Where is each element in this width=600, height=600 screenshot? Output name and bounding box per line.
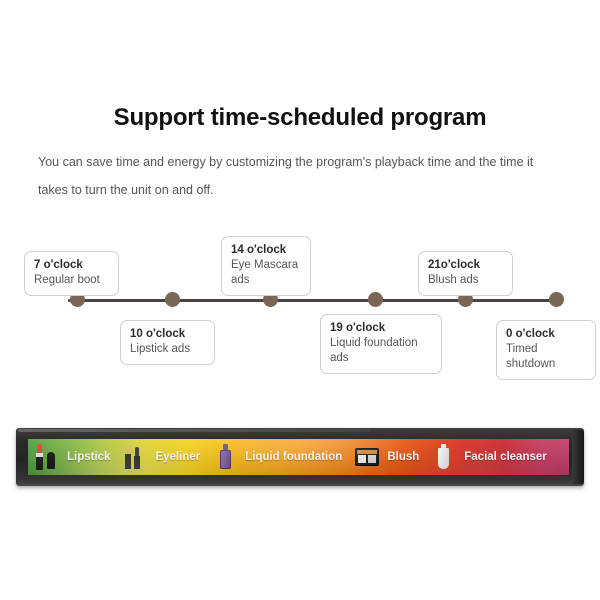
timeline-event-time: 0 o'clock xyxy=(506,327,586,342)
timeline-event-time: 7 o'clock xyxy=(34,258,109,273)
stretched-bar-display: Lipstick Eyeliner Liquid foundation xyxy=(16,428,584,486)
timeline-event-10-oclock[interactable]: 10 o'clock Lipstick ads xyxy=(120,320,215,365)
timeline-dot[interactable] xyxy=(165,292,180,307)
lipstick-icon xyxy=(34,442,60,472)
timeline-event-time: 19 o'clock xyxy=(330,321,432,336)
timeline-event-14-oclock[interactable]: 14 o'clock Eye Mascara ads xyxy=(221,236,311,296)
timeline-event-desc: Timed shutdown xyxy=(506,342,586,372)
timeline-axis xyxy=(68,299,558,302)
display-item-label: Lipstick xyxy=(67,451,110,463)
display-item-label: Eyeliner xyxy=(155,451,200,463)
blush-palette-icon xyxy=(354,442,380,472)
display-item-label: Blush xyxy=(387,451,419,463)
display-item-label: Liquid foundation xyxy=(245,451,342,463)
timeline-event-desc: Liquid foundation ads xyxy=(330,336,432,366)
display-screen: Lipstick Eyeliner Liquid foundation xyxy=(28,439,569,475)
timeline-dot[interactable] xyxy=(368,292,383,307)
timeline-event-7-oclock[interactable]: 7 o'clock Regular boot xyxy=(24,251,119,296)
display-item-facial-cleanser: Facial cleanser xyxy=(431,439,558,475)
cleanser-tube-icon xyxy=(431,442,457,472)
timeline-event-desc: Eye Mascara ads xyxy=(231,258,301,288)
timeline-event-time: 10 o'clock xyxy=(130,327,205,342)
timeline-event-time: 21o'clock xyxy=(428,258,503,273)
timeline-event-desc: Blush ads xyxy=(428,273,503,288)
bezel-highlight xyxy=(18,429,370,432)
timeline-event-21-oclock[interactable]: 21o'clock Blush ads xyxy=(418,251,513,296)
timeline-event-19-oclock[interactable]: 19 o'clock Liquid foundation ads xyxy=(320,314,442,374)
foundation-bottle-icon xyxy=(212,442,238,472)
timeline-dot[interactable] xyxy=(549,292,564,307)
timeline-event-desc: Lipstick ads xyxy=(130,342,205,357)
display-item-blush: Blush xyxy=(354,439,431,475)
display-item-lipstick: Lipstick xyxy=(34,439,122,475)
display-item-liquid-foundation: Liquid foundation xyxy=(212,439,354,475)
bezel-right-face xyxy=(572,430,584,484)
schedule-timeline: 7 o'clock Regular boot 10 o'clock Lipsti… xyxy=(0,240,600,390)
page-title: Support time-scheduled program xyxy=(0,104,600,132)
eyeliner-icon xyxy=(122,442,148,472)
timeline-event-time: 14 o'clock xyxy=(231,243,301,258)
display-item-eyeliner: Eyeliner xyxy=(122,439,212,475)
timeline-event-0-oclock[interactable]: 0 o'clock Timed shutdown xyxy=(496,320,596,380)
display-item-label: Facial cleanser xyxy=(464,451,546,463)
page-subtitle: You can save time and energy by customiz… xyxy=(38,148,566,204)
timeline-event-desc: Regular boot xyxy=(34,273,109,288)
